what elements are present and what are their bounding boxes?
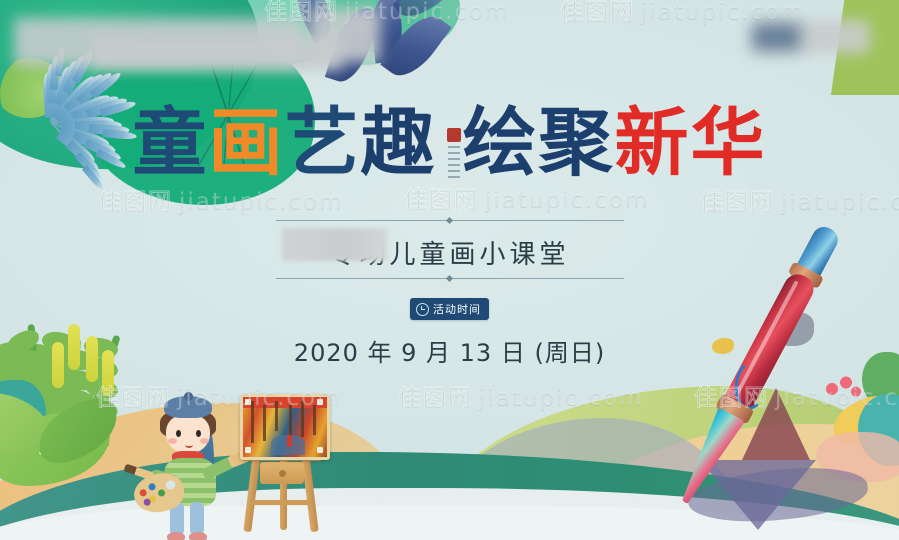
boy-shoe-right [189,532,207,540]
easel-drawer-knob [279,470,286,477]
painting-scene [120,390,330,540]
canvas-clip [317,447,323,453]
palette-paint-dot [148,483,156,491]
painting-tree-trunk [263,405,266,441]
boy-cheek-left [168,438,177,444]
subtitle-row: 专场儿童画小课堂 [0,216,899,284]
event-date-block: 活动时间 2020 年 9 月 13 日 (周日) [0,298,899,368]
headline-char-hua: 画 [209,106,285,180]
headline-char-qu: 趣 [361,106,437,180]
canvas-clip [245,399,251,405]
boy-shoe-left [167,532,185,540]
redacted-patch [92,36,342,70]
boy-leg-right [190,502,204,536]
painting-tree-trunk [275,401,278,431]
easel [232,396,336,530]
subtitle-rule-diamond-top [446,217,453,224]
boy-face [166,414,210,454]
status-badge: 活动时间 [410,298,489,320]
poster-canvas: 童画艺趣绘聚新华 专场儿童画小课堂 活动时间 2020 年 9 月 13 日 (… [0,0,899,540]
palette-paint-dot [143,498,151,506]
easel-brace [250,500,312,505]
painting-tree-trunk [313,405,316,435]
redacted-patch [310,8,380,62]
headline-char-ju: 聚 [539,106,615,180]
painting-figure [287,435,292,447]
red-seal-stamp-icon [447,128,461,142]
red-berry-sprig [824,376,864,402]
boy-cheek-right [200,438,209,444]
easel-canvas-painting [240,394,330,460]
palette-paint-dot [139,489,147,497]
boy-beret-button [184,392,193,401]
painting-tree-trunk [251,401,254,443]
redacted-patch [752,24,800,50]
headline-char-hui: 绘 [463,106,539,180]
subtitle-text: 专场儿童画小课堂 [0,234,899,271]
headline-char-hua2: 华 [691,106,767,180]
subtitle-rule-diamond-bottom [446,275,453,282]
palette-thumb-hole [165,479,177,490]
badge-label: 活动时间 [433,301,481,317]
seal-vertical-text [448,146,460,180]
canvas-clip [245,447,251,453]
easel-leg-left [243,454,260,532]
boy-eye-right [196,430,201,437]
event-date-text: 2020 年 9 月 13 日 (周日) [0,333,899,368]
headline-char-tong: 童 [133,106,209,180]
painting-tree-trunk [301,401,304,437]
boy-eye-left [176,430,181,437]
subtitle-redacted-prefix [282,228,387,261]
headline-char-yi: 艺 [285,106,361,180]
palette-paint-dot [157,489,165,497]
clock-icon [416,303,429,316]
boy-mouth [185,442,193,448]
headline-char-xin: 新 [615,106,691,180]
canvas-clip [317,399,323,405]
boy-painter [146,396,236,526]
